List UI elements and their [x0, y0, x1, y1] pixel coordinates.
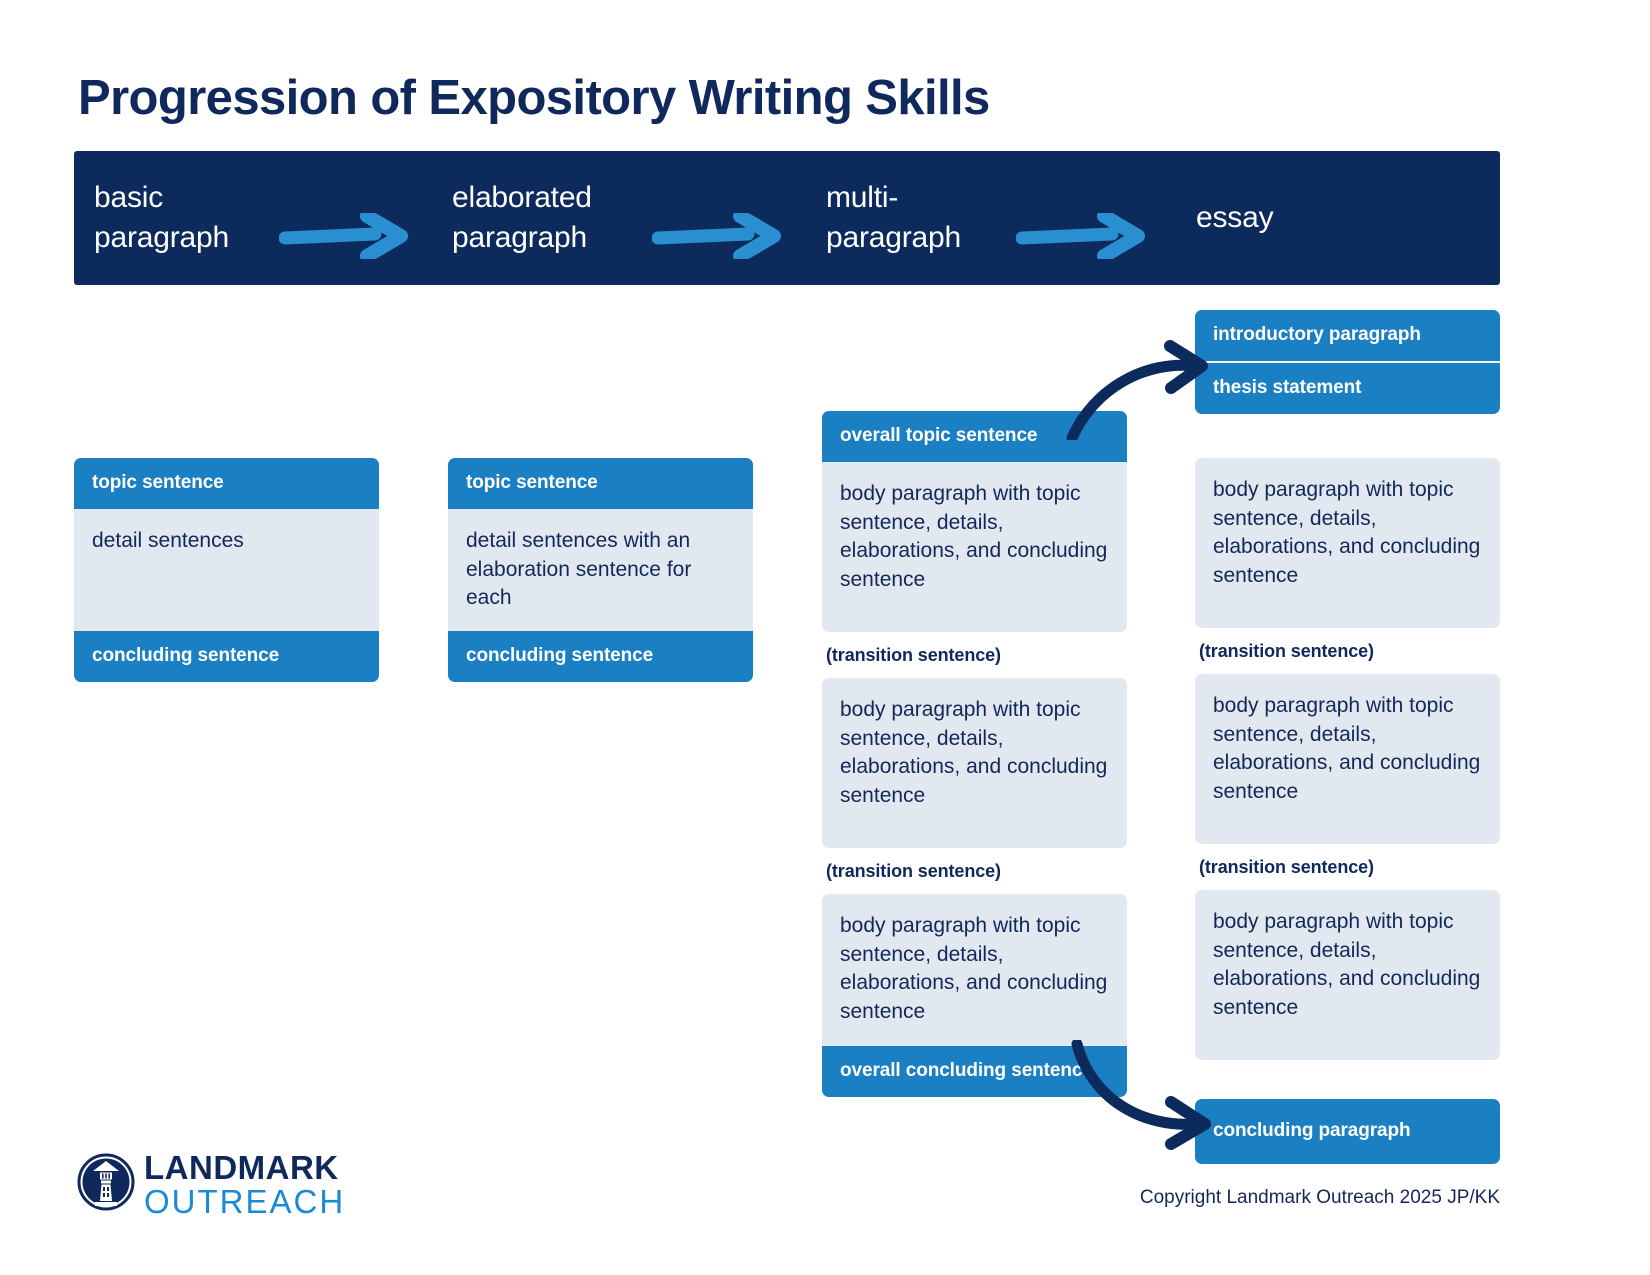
logo-line-outreach: OUTREACH	[144, 1185, 345, 1219]
essay-body-paragraph-3: body paragraph with topic sentence, deta…	[1195, 890, 1500, 1060]
banner-stage-basic: basic paragraph	[94, 151, 284, 285]
column-basic-paragraph: topic sentence detail sentences concludi…	[74, 458, 379, 682]
basic-topic-sentence-header: topic sentence	[74, 458, 379, 509]
column-essay: introductory paragraph thesis statement …	[1195, 310, 1500, 1164]
lighthouse-icon	[76, 1152, 136, 1212]
essay-concluding-paragraph-footer: concluding paragraph	[1195, 1099, 1500, 1164]
banner-stage-multi-line2: paragraph	[826, 218, 961, 258]
essay-transition-sentence-2: (transition sentence)	[1195, 844, 1500, 890]
banner-stage-essay-label: essay	[1196, 198, 1273, 238]
landmark-outreach-logo: LANDMARK OUTREACH	[76, 1152, 346, 1218]
essay-gap-2	[1195, 1060, 1500, 1099]
essay-transition-sentence-1: (transition sentence)	[1195, 628, 1500, 674]
basic-concluding-sentence-footer: concluding sentence	[74, 631, 379, 682]
right-arrow-icon	[1016, 213, 1164, 259]
elaborated-concluding-sentence-footer: concluding sentence	[448, 631, 753, 682]
multi-overall-concluding-sentence-footer: overall concluding sentence	[822, 1046, 1127, 1097]
elaborated-detail-body: detail sentences with an elaboration sen…	[448, 509, 753, 631]
progression-banner: basic paragraph elaborated paragraph mul…	[74, 151, 1500, 285]
page-title: Progression of Expository Writing Skills	[78, 70, 990, 126]
banner-stage-multi: multi- paragraph	[826, 151, 1026, 285]
banner-stage-multi-line1: multi-	[826, 178, 961, 218]
multi-body-paragraph-1: body paragraph with topic sentence, deta…	[822, 462, 1127, 632]
essay-introductory-paragraph-header: introductory paragraph	[1195, 310, 1500, 361]
essay-body-paragraph-1: body paragraph with topic sentence, deta…	[1195, 458, 1500, 628]
basic-detail-body: detail sentences	[74, 509, 379, 631]
essay-body-paragraph-2: body paragraph with topic sentence, deta…	[1195, 674, 1500, 844]
banner-stage-essay: essay	[1196, 151, 1396, 285]
multi-transition-sentence-1: (transition sentence)	[822, 632, 1127, 678]
right-arrow-icon	[652, 213, 800, 259]
multi-body-paragraph-2: body paragraph with topic sentence, deta…	[822, 678, 1127, 848]
column-elaborated-paragraph: topic sentence detail sentences with an …	[448, 458, 753, 682]
banner-stage-elaborated-label: elaborated paragraph	[452, 178, 592, 258]
logo-line-landmark: LANDMARK	[144, 1151, 345, 1185]
banner-stage-essay-line1: essay	[1196, 198, 1273, 238]
infographic-page: Progression of Expository Writing Skills…	[0, 0, 1650, 1275]
essay-gap-1	[1195, 414, 1500, 458]
banner-stage-elaborated-line1: elaborated	[452, 178, 592, 218]
banner-stage-elaborated: elaborated paragraph	[452, 151, 652, 285]
multi-overall-topic-sentence-header: overall topic sentence	[822, 411, 1127, 462]
banner-stage-basic-line2: paragraph	[94, 218, 229, 258]
banner-stage-basic-line1: basic	[94, 178, 229, 218]
logo-wordmark: LANDMARK OUTREACH	[144, 1151, 345, 1219]
copyright-text: Copyright Landmark Outreach 2025 JP/KK	[1140, 1187, 1500, 1209]
column-multi-paragraph: overall topic sentence body paragraph wi…	[822, 411, 1127, 1097]
banner-stage-elaborated-line2: paragraph	[452, 218, 592, 258]
banner-stage-basic-label: basic paragraph	[94, 178, 229, 258]
multi-transition-sentence-2: (transition sentence)	[822, 848, 1127, 894]
multi-body-paragraph-3: body paragraph with topic sentence, deta…	[822, 894, 1127, 1046]
banner-stage-multi-label: multi- paragraph	[826, 178, 961, 258]
essay-thesis-statement-header: thesis statement	[1195, 363, 1500, 414]
elaborated-topic-sentence-header: topic sentence	[448, 458, 753, 509]
right-arrow-icon	[279, 213, 427, 259]
